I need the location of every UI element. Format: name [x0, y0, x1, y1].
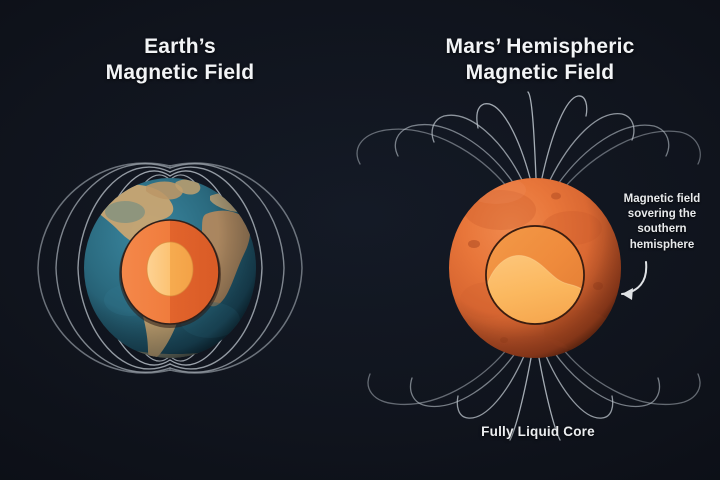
annotation-arrow-icon: [622, 262, 646, 300]
mars-field-annotation: Magnetic field sovering the southern hem…: [608, 192, 716, 253]
mars-panel-title: Mars’ Hemispheric Magnetic Field: [382, 34, 698, 85]
diagram-canvas: Earth’s Magnetic Field Mars’ Hemispheric…: [0, 0, 720, 480]
mars-core-caption: Fully Liquid Core: [420, 424, 656, 439]
earth-core-cutaway: [119, 220, 221, 328]
earth-panel-title: Earth’s Magnetic Field: [22, 34, 338, 85]
